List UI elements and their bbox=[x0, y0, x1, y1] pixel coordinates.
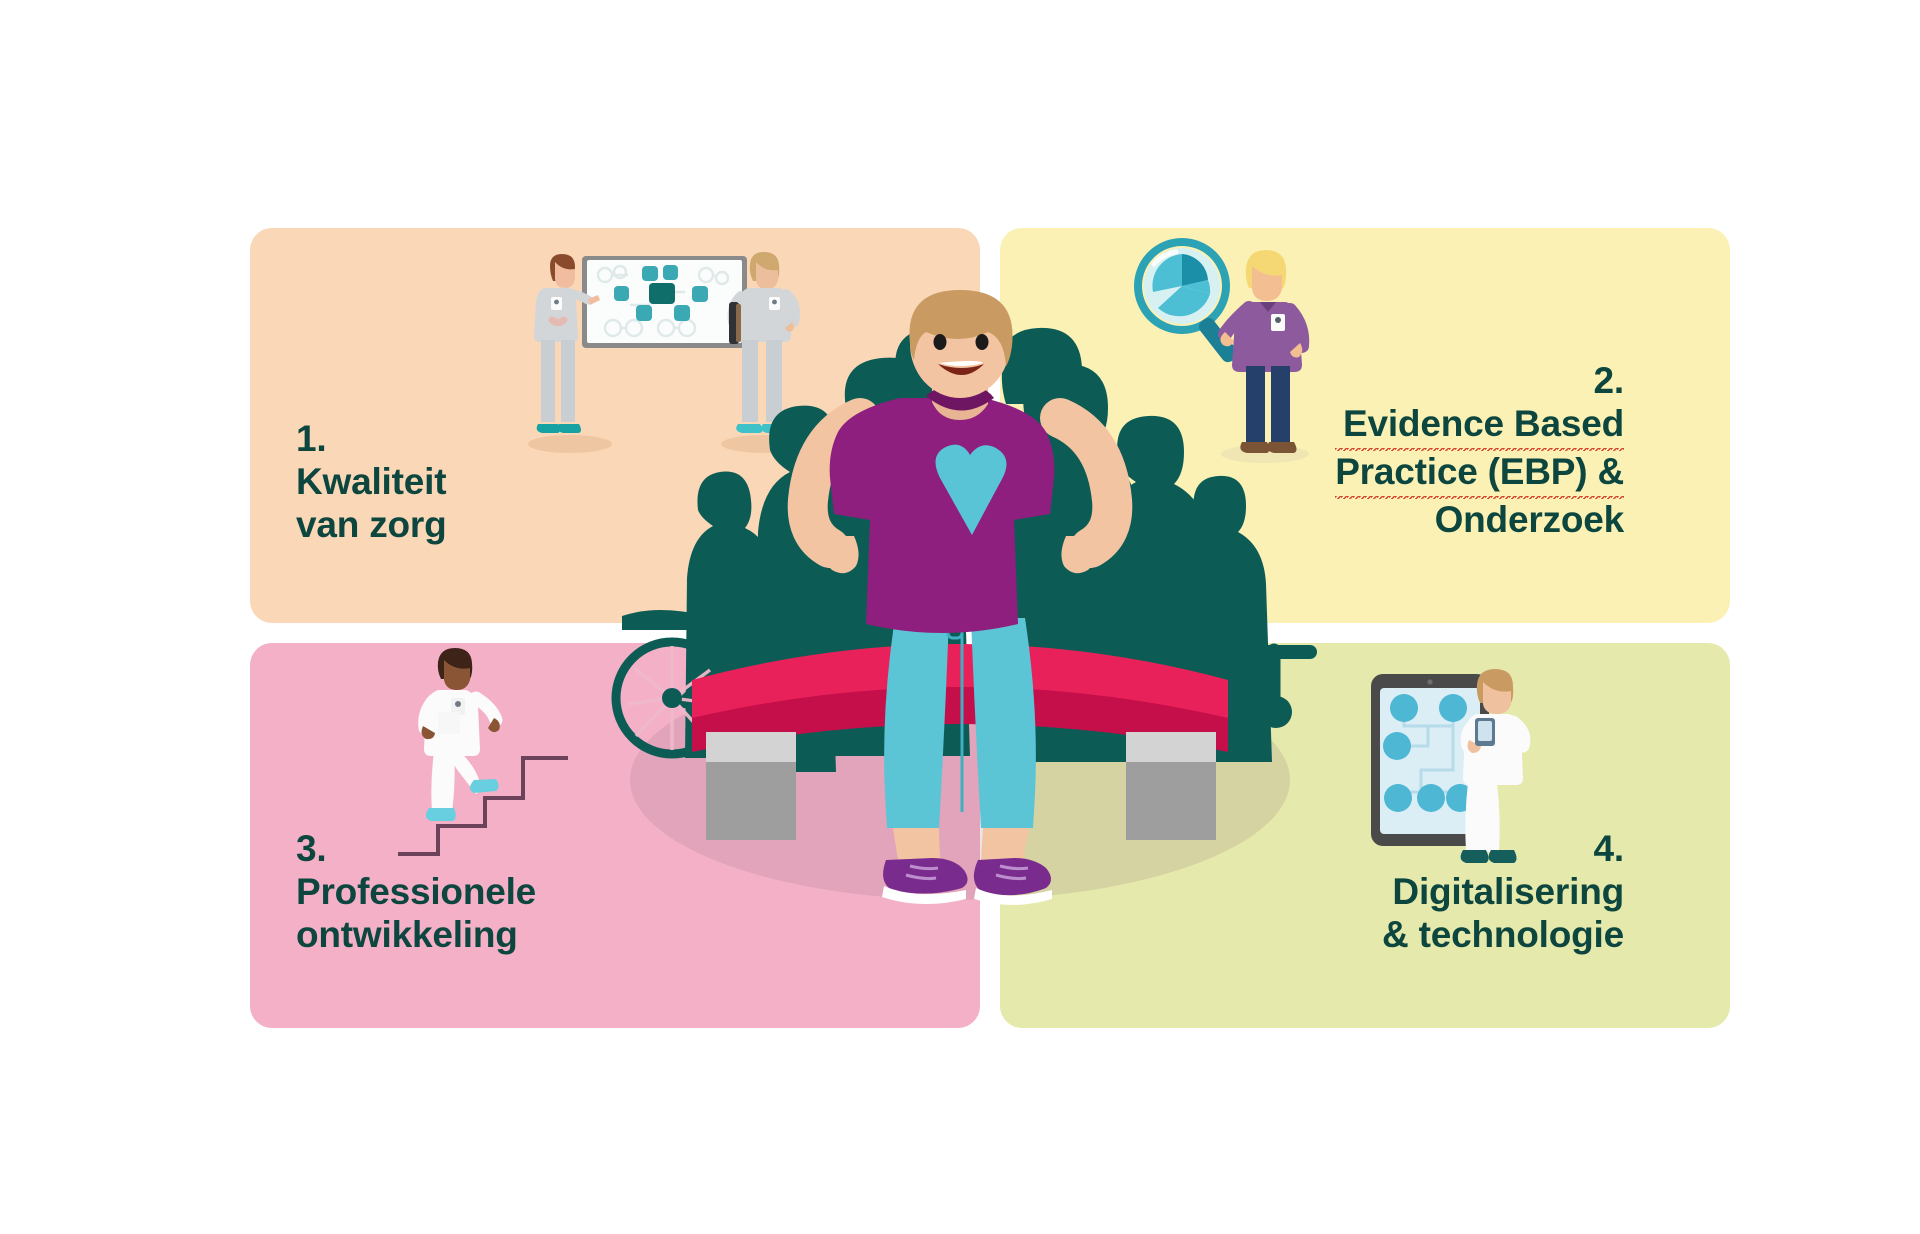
quadrant-line-3: Onderzoek bbox=[1335, 499, 1624, 542]
quadrant-line-1: Evidence Based bbox=[1335, 403, 1624, 451]
central-scene-nurse-and-patients bbox=[610, 300, 1310, 950]
quadrant-number: 3. bbox=[296, 828, 536, 871]
quadrant-label-kwaliteit-van-zorg: 1. Kwaliteit van zorg bbox=[296, 418, 447, 547]
quadrant-line-1: Professionele bbox=[296, 871, 536, 914]
quadrant-number: 1. bbox=[296, 418, 447, 461]
quadrant-number: 4. bbox=[1382, 828, 1624, 871]
quadrant-label-digitalisering-technologie: 4. Digitalisering & technologie bbox=[1382, 828, 1624, 957]
quadrant-line-1: Kwaliteit bbox=[296, 461, 447, 504]
quadrant-line-2: ontwikkeling bbox=[296, 914, 536, 957]
quadrant-label-evidence-based-practice: 2. Evidence Based Practice (EBP) & Onder… bbox=[1335, 360, 1624, 542]
quadrant-line-2: van zorg bbox=[296, 504, 447, 547]
quadrant-label-professionele-ontwikkeling: 3. Professionele ontwikkeling bbox=[296, 828, 536, 957]
quadrant-line-2: & technologie bbox=[1382, 914, 1624, 957]
infographic-canvas: 1. Kwaliteit van zorg 2. Evidence Based … bbox=[0, 0, 1920, 1234]
quadrant-line-2: Practice (EBP) & bbox=[1335, 451, 1624, 499]
quadrant-line-1: Digitalisering bbox=[1382, 871, 1624, 914]
quadrant-number: 2. bbox=[1335, 360, 1624, 403]
